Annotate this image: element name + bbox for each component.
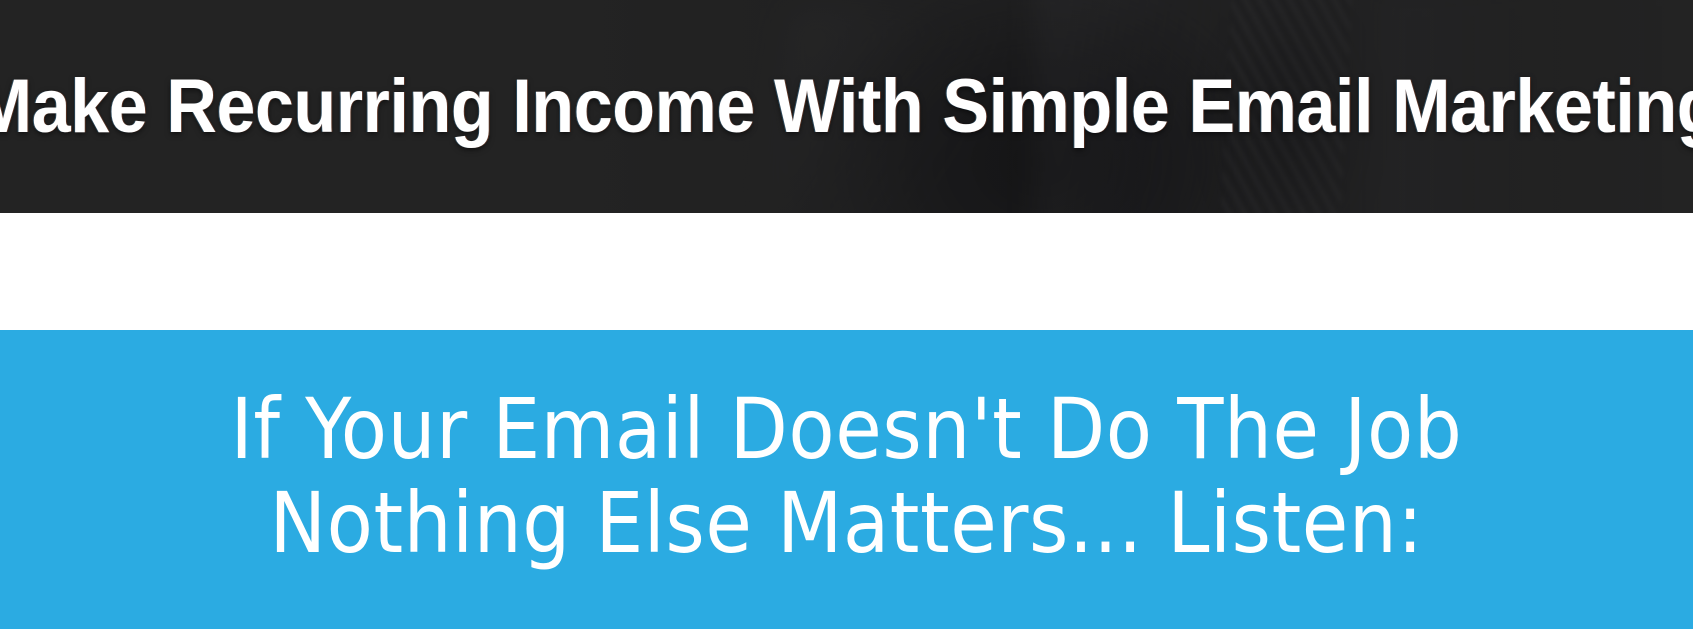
blue-headline-line-2: Nothing Else Matters... Listen: <box>0 476 1693 570</box>
page-title: Make Recurring Income With Simple Email … <box>68 0 1626 213</box>
blue-headline-line-1: If Your Email Doesn't Do The Job <box>0 382 1693 476</box>
hero-header: Make Recurring Income With Simple Email … <box>0 0 1693 213</box>
white-spacer <box>0 213 1693 330</box>
landing-page: Make Recurring Income With Simple Email … <box>0 0 1693 629</box>
blue-headline: If Your Email Doesn't Do The Job Nothing… <box>0 330 1693 570</box>
blue-headline-section: If Your Email Doesn't Do The Job Nothing… <box>0 330 1693 629</box>
